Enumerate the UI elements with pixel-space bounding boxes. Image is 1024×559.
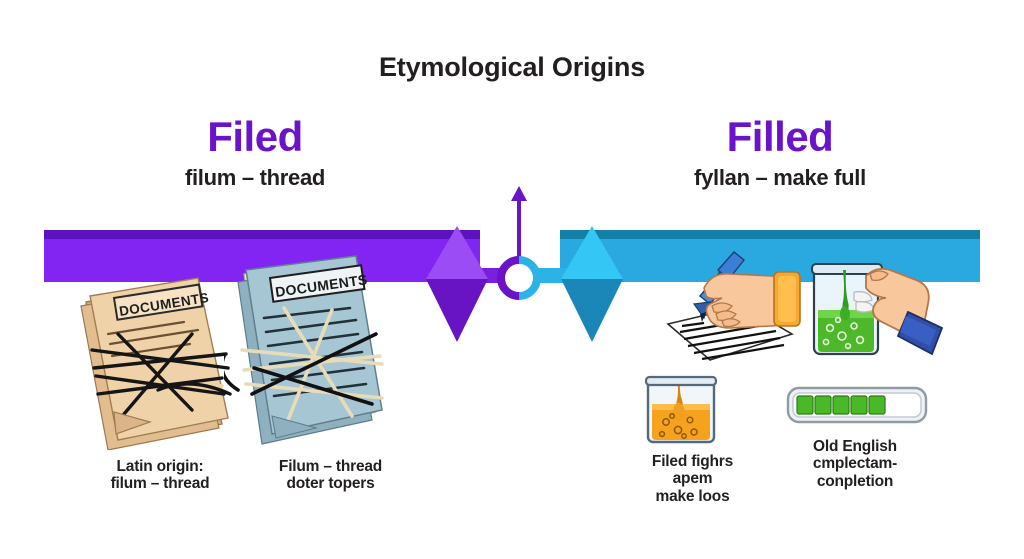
left-heading-group: Filed filum – thread (110, 116, 400, 191)
caption-line: Filed fighrs (615, 453, 770, 470)
caption-line: cmplectam- (780, 455, 930, 472)
left-diamond-bottom-icon (426, 279, 488, 342)
page-title: Etymological Origins (0, 52, 1024, 83)
hand-pouring-green-beaker-icon (800, 250, 948, 362)
old-english-caption: Old English cmplectam- conpletion (780, 438, 930, 490)
filum-thread-caption: Filum – thread doter topers (248, 458, 413, 493)
caption-line: Latin origin: (70, 458, 250, 475)
right-ribbon-top-edge (560, 230, 980, 239)
caption-line: Filum – thread (248, 458, 413, 475)
caption-line: conpletion (780, 473, 930, 490)
caption-line: doter topers (248, 475, 413, 492)
progress-segment (869, 396, 885, 414)
progress-segment (851, 396, 867, 414)
progress-segment (833, 396, 849, 414)
blue-document-stack-icon: DOCUMENTS (224, 252, 388, 448)
progress-segment (815, 396, 831, 414)
orange-liquid-beaker-icon (634, 372, 734, 448)
infographic-canvas: Etymological Origins Filed filum – threa… (0, 0, 1024, 559)
right-headword: Filled (620, 116, 940, 159)
timeline-split-node-icon (497, 256, 541, 300)
caption-line: filum – thread (70, 475, 250, 492)
right-subtitle: fyllan – make full (620, 165, 940, 191)
filed-fighrs-caption: Filed fighrs apem make loos (615, 453, 770, 505)
green-progress-bar-icon (786, 384, 928, 426)
right-diamond-top-icon (561, 226, 623, 279)
hand-writing-on-paper-icon (660, 248, 806, 370)
left-ribbon-top-edge (44, 230, 480, 239)
right-diamond-bottom-icon (561, 279, 623, 342)
caption-line: Old English (780, 438, 930, 455)
right-heading-group: Filled fyllan – make full (620, 116, 940, 191)
caption-line: apem (615, 470, 770, 487)
left-headword: Filed (110, 116, 400, 159)
left-diamond-top-icon (426, 226, 488, 279)
caption-line: make loos (615, 488, 770, 505)
latin-origin-caption: Latin origin: filum – thread (70, 458, 250, 493)
tan-document-stack-icon: DOCUMENTS (72, 272, 232, 450)
left-subtitle: filum – thread (110, 165, 400, 191)
progress-segment (797, 396, 813, 414)
node-center-hole (505, 264, 533, 292)
